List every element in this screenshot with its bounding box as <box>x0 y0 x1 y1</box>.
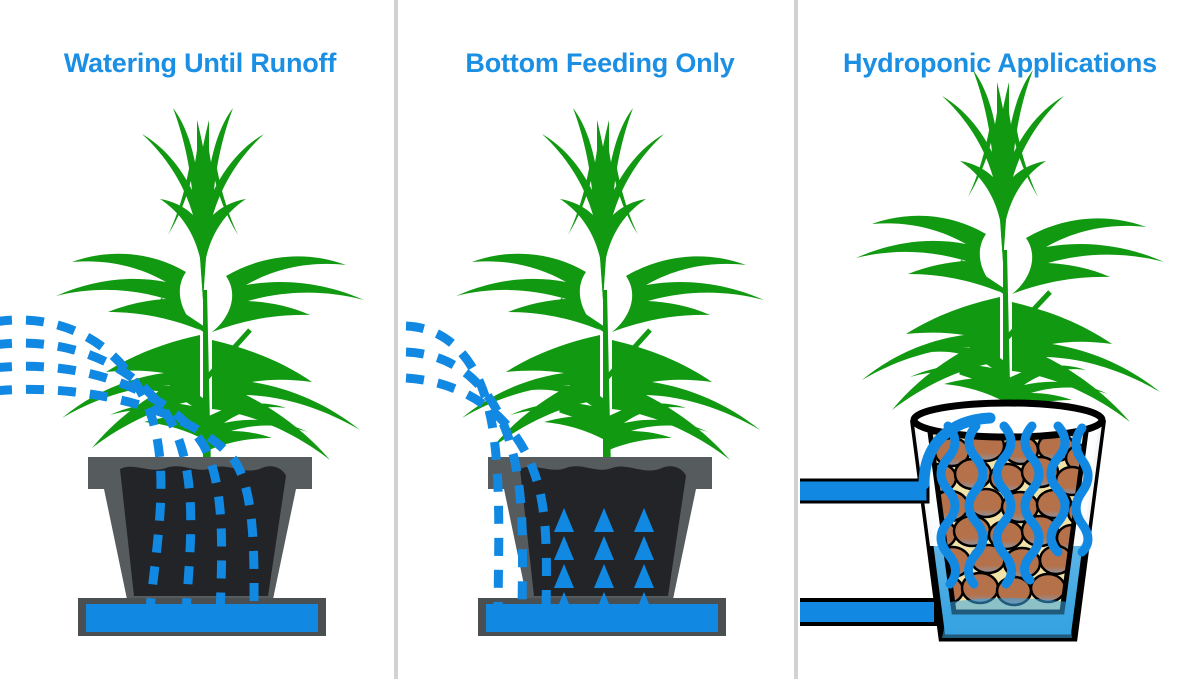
water-stream-1 <box>406 326 499 618</box>
panel-watering-until-runoff: Watering Until Runoff <box>0 0 400 679</box>
panel-divider-2 <box>794 0 798 679</box>
panel-2-illustration <box>400 0 800 679</box>
plant-pot <box>88 457 312 604</box>
panel-hydroponic-applications: Hydroponic Applications <box>800 0 1200 679</box>
infographic-canvas: Watering Until Runoff <box>0 0 1200 679</box>
tray-water <box>86 604 318 632</box>
water-tray <box>78 598 326 636</box>
panel-3-illustration <box>800 0 1200 679</box>
panel-bottom-feeding-only: Bottom Feeding Only <box>400 0 800 679</box>
reservoir-water-line <box>942 598 1072 638</box>
plant-icon <box>856 70 1164 430</box>
panel-1-illustration <box>0 0 400 679</box>
drain-pipe <box>800 600 936 624</box>
panel-divider-1 <box>394 0 398 679</box>
plant-icon <box>56 108 364 470</box>
